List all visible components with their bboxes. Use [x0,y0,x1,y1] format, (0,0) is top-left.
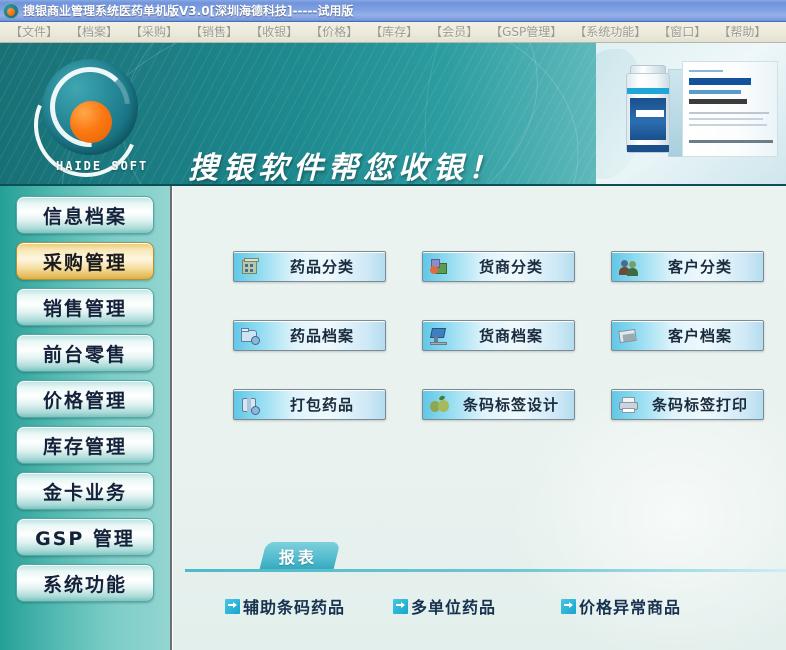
book-scanner-icon-glyph [429,326,451,346]
printer-icon [615,392,643,417]
action-button-0-0[interactable]: 药品分类 [233,251,386,282]
report-tab-row: 报表 [185,541,786,569]
fruit-icon-glyph [429,395,451,415]
sidebar-item-1[interactable]: 采购管理 [16,242,154,280]
content-panel: 药品分类货商分类客户分类药品档案货商档案客户档案打包药品条码标签设计条码标签打印… [172,186,786,650]
sidebar-item-7[interactable]: GSP 管理 [16,518,154,556]
menu-item-5[interactable]: 【价格】 [304,22,364,42]
report-link-2[interactable]: 价格异常商品 [561,594,729,618]
arrow-right-icon [561,599,576,614]
report-tab[interactable]: 报表 [260,542,341,569]
book-scanner-icon [426,323,454,348]
action-button-1-0[interactable]: 药品档案 [233,320,386,351]
box-text-line [689,112,769,114]
report-link-label: 辅助条码药品 [243,594,345,618]
card-hand-icon-glyph [618,326,640,346]
menu-item-0[interactable]: 【文件】 [4,22,64,42]
fruit-icon [426,392,454,417]
window-title: 搜银商业管理系统医药单机版V3.0[深圳海德科技]-----试用版 [23,2,353,19]
action-row-2: 打包药品条码标签设计条码标签打印 [233,389,773,420]
app-logo-icon [3,3,19,19]
action-button-label: 客户分类 [643,256,763,277]
action-cell: 客户档案 [611,320,786,351]
report-link-label: 多单位药品 [411,594,496,618]
sidebar-item-label: 价格管理 [43,386,127,413]
action-cell: 打包药品 [233,389,422,420]
action-cell: 药品分类 [233,251,422,282]
package-icon-glyph [240,395,262,415]
sidebar-item-4[interactable]: 价格管理 [16,380,154,418]
workspace: 信息档案采购管理销售管理前台零售价格管理库存管理金卡业务GSP 管理系统功能 药… [0,186,786,650]
menubar: 【文件】【档案】【采购】【销售】【收银】【价格】【库存】【会员】【GSP管理】【… [0,22,786,43]
action-button-0-2[interactable]: 客户分类 [611,251,764,282]
menu-item-3[interactable]: 【销售】 [184,22,244,42]
bottle-label [630,98,666,140]
card-hand-icon [615,323,643,348]
action-button-label: 条码标签设计 [454,394,574,415]
menu-item-10[interactable]: 【窗口】 [652,22,712,42]
sidebar-item-label: 采购管理 [43,248,127,275]
report-divider [185,569,786,572]
box-text-line [689,118,763,120]
sidebar-item-label: 信息档案 [43,202,127,229]
window-titlebar: 搜银商业管理系统医药单机版V3.0[深圳海德科技]-----试用版 [0,0,786,22]
printer-icon-glyph [618,395,640,415]
action-button-label: 客户档案 [643,325,763,346]
action-button-label: 条码标签打印 [643,394,763,415]
report-link-label: 价格异常商品 [579,594,681,618]
cubes-icon [426,254,454,279]
people-icon-glyph [618,257,640,277]
app-banner: HAIDE SOFT 搜银软件帮您收银！ [0,43,786,186]
menu-item-7[interactable]: 【会员】 [424,22,484,42]
action-button-2-1[interactable]: 条码标签设计 [422,389,575,420]
sidebar-item-label: 销售管理 [43,294,127,321]
action-button-label: 药品档案 [265,325,385,346]
action-button-2-2[interactable]: 条码标签打印 [611,389,764,420]
product-box-front [682,61,778,157]
action-button-1-2[interactable]: 客户档案 [611,320,764,351]
action-cell: 条码标签打印 [611,389,786,420]
box-text-line [689,70,723,72]
action-button-0-1[interactable]: 货商分类 [422,251,575,282]
folder-globe-icon [237,323,265,348]
sidebar-item-label: GSP 管理 [35,524,135,551]
cubes-icon-glyph [429,257,451,277]
menu-item-2[interactable]: 【采购】 [124,22,184,42]
sidebar-item-6[interactable]: 金卡业务 [16,472,154,510]
report-link-list: 辅助条码药品多单位药品价格异常商品 [185,594,786,618]
action-cell: 客户分类 [611,251,786,282]
action-button-1-1[interactable]: 货商档案 [422,320,575,351]
building-icon-glyph [240,257,262,277]
sidebar-item-label: 前台零售 [43,340,127,367]
action-row-1: 药品档案货商档案客户档案 [233,320,773,351]
report-link-1[interactable]: 多单位药品 [393,594,561,618]
box-text-line [689,140,773,143]
action-button-label: 货商分类 [454,256,574,277]
action-button-label: 打包药品 [265,394,385,415]
action-cell: 货商分类 [422,251,611,282]
report-tab-label: 报表 [279,544,317,568]
action-button-grid: 药品分类货商分类客户分类药品档案货商档案客户档案打包药品条码标签设计条码标签打印 [233,251,773,458]
brand-logo: HAIDE SOFT [30,55,160,180]
action-button-label: 货商档案 [454,325,574,346]
menu-item-11[interactable]: 【帮助】 [712,22,772,42]
action-button-label: 药品分类 [265,256,385,277]
action-cell: 药品档案 [233,320,422,351]
module-sidebar: 信息档案采购管理销售管理前台零售价格管理库存管理金卡业务GSP 管理系统功能 [0,186,172,650]
arrow-right-icon [225,599,240,614]
action-row-0: 药品分类货商分类客户分类 [233,251,773,282]
people-icon [615,254,643,279]
sidebar-item-label: 系统功能 [43,570,127,597]
sidebar-item-label: 库存管理 [43,432,127,459]
sidebar-item-8[interactable]: 系统功能 [16,564,154,602]
sidebar-item-label: 金卡业务 [43,478,127,505]
medicine-bottle [626,73,670,153]
menu-item-4[interactable]: 【收银】 [244,22,304,42]
menu-item-1[interactable]: 【档案】 [64,22,124,42]
sidebar-item-0[interactable]: 信息档案 [16,196,154,234]
bottle-foot [627,145,669,152]
action-cell: 货商档案 [422,320,611,351]
sidebar-item-5[interactable]: 库存管理 [16,426,154,464]
report-section: 报表 辅助条码药品多单位药品价格异常商品 [185,541,786,618]
banner-slogan: 搜银软件帮您收银！ [188,143,503,186]
menu-item-8[interactable]: 【GSP管理】 [484,22,568,42]
box-text-line [689,78,751,85]
action-button-2-0[interactable]: 打包药品 [233,389,386,420]
box-text-line [689,99,747,104]
box-text-line [689,90,741,94]
package-icon [237,392,265,417]
logo-wordmark: HAIDE SOFT [56,159,148,173]
bottle-band [627,88,669,94]
box-text-line [689,124,767,126]
menu-item-9[interactable]: 【系统功能】 [568,22,652,42]
sidebar-item-2[interactable]: 销售管理 [16,288,154,326]
logo-dot-icon [70,101,112,143]
arrow-right-icon [393,599,408,614]
action-cell: 条码标签设计 [422,389,611,420]
sidebar-item-3[interactable]: 前台零售 [16,334,154,372]
product-photo [596,43,786,184]
folder-globe-icon-glyph [240,326,262,346]
building-icon [237,254,265,279]
menu-item-6[interactable]: 【库存】 [364,22,424,42]
report-link-0[interactable]: 辅助条码药品 [225,594,393,618]
